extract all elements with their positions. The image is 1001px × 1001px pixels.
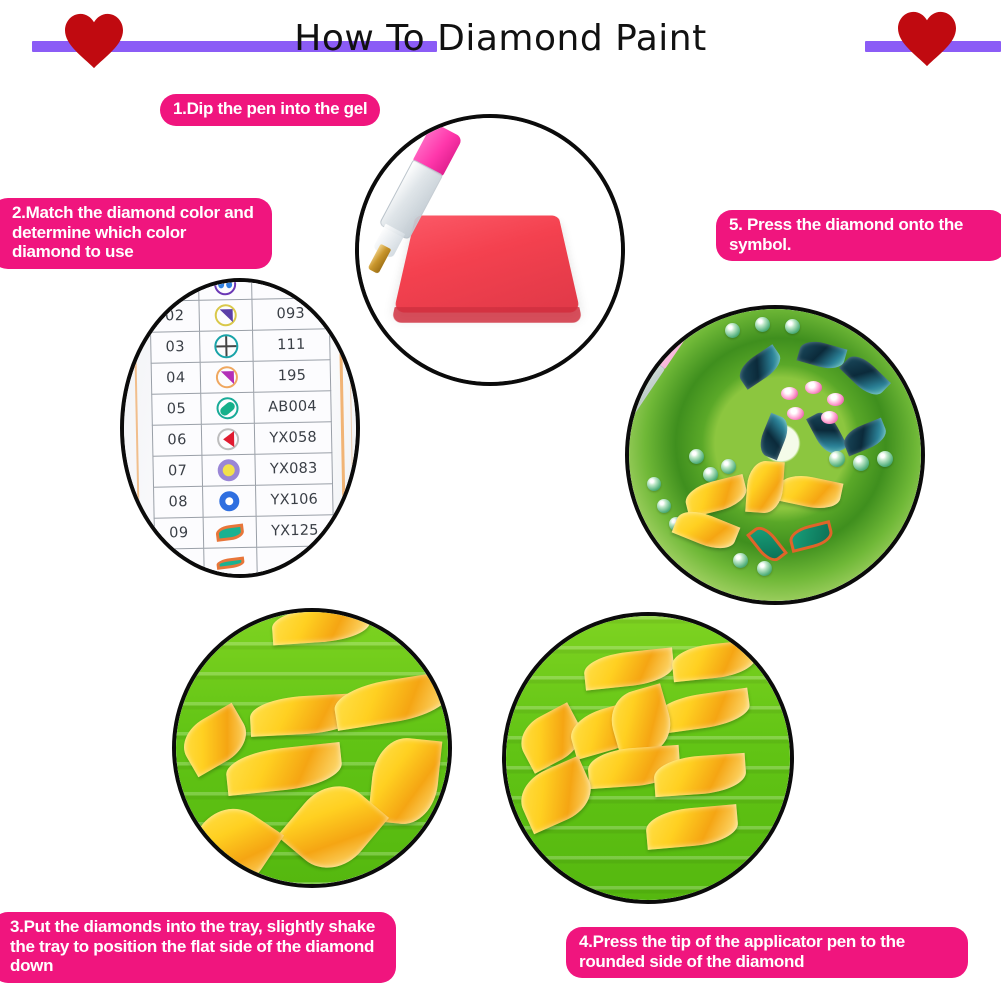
table-row: 05 AB004 — [152, 391, 332, 425]
cell-no — [155, 548, 205, 574]
table-row: 06 YX058 — [152, 422, 332, 456]
cell-no: 03 — [151, 331, 201, 363]
cell-symbol — [200, 361, 254, 393]
left-arrow-symbol-icon — [217, 428, 239, 450]
triangle-symbol-icon — [215, 304, 237, 326]
photo-diamonds-in-tray: yellow marquise diamonds on green ridged… — [172, 608, 452, 888]
cell-symbol — [203, 485, 257, 517]
table-row: 03 111 — [151, 329, 331, 363]
cell-code: 028 — [251, 282, 329, 299]
cell-no: 02 — [150, 300, 200, 332]
cell-code: YX083 — [255, 453, 333, 485]
cell-code — [257, 546, 335, 574]
table-row: 02 093 — [150, 298, 330, 332]
cell-no: 08 — [154, 486, 204, 518]
teal-leaf-symbol-icon — [215, 523, 245, 541]
table-row — [155, 546, 335, 574]
magenta-triangle-symbol-icon — [216, 366, 238, 388]
cell-symbol — [201, 392, 255, 424]
infographic-page: How To Diamond Paint 1.Dip the pen into … — [0, 0, 1001, 1001]
cell-code: YX125 — [256, 515, 334, 547]
table-row: 07 YX083 — [153, 453, 333, 487]
filled-dot-symbol-icon — [218, 459, 240, 481]
cell-code: YX106 — [256, 484, 334, 516]
cell-symbol — [204, 547, 258, 574]
gel-pad — [393, 215, 580, 312]
step-3-label: 3.Put the diamonds into the tray, slight… — [0, 912, 396, 983]
cell-code: YX058 — [254, 422, 332, 454]
cell-code: 195 — [253, 360, 331, 392]
cell-no: 05 — [152, 393, 202, 425]
cell-symbol — [202, 454, 256, 486]
step-2-label: 2.Match the diamond color and determine … — [0, 198, 272, 269]
cell-no: 01 — [149, 282, 199, 301]
cell-code: 111 — [253, 329, 331, 361]
table-row: 08 YX106 — [154, 484, 334, 518]
plus-symbol-icon — [214, 334, 238, 358]
photo-caption: pen pressing yellow diamond onto green m… — [629, 309, 630, 310]
photo-press-diamond-on-symbol: pen pressing yellow diamond onto green m… — [625, 305, 925, 605]
cell-no: 06 — [152, 424, 202, 456]
step-1-label: 1.Dip the pen into the gel — [160, 94, 380, 126]
table-row: 09 YX125 — [154, 515, 334, 549]
photo-caption: pen tip picking up a diamond from the gr… — [506, 616, 507, 617]
blue-donut-symbol-icon — [219, 491, 239, 511]
cell-code: 093 — [252, 298, 330, 330]
cell-symbol — [203, 516, 257, 548]
cell-symbol — [198, 282, 252, 300]
photo-caption: printed diamond painting color code char… — [124, 282, 125, 283]
step-4-label: 4.Press the tip of the applicator pen to… — [566, 927, 968, 978]
page-title: How To Diamond Paint — [0, 18, 1001, 59]
photo-color-chart: 01 028 02 093 — [120, 278, 360, 578]
cell-no: 07 — [153, 455, 203, 487]
cell-code: AB004 — [254, 391, 332, 423]
photo-caption: yellow marquise diamonds on green ridged… — [176, 612, 177, 613]
photo-pick-up-diamond: pen tip picking up a diamond from the gr… — [502, 612, 794, 904]
smiley-circle-symbol-icon — [214, 282, 236, 295]
cell-symbol — [199, 299, 253, 331]
cell-no: 09 — [154, 517, 204, 549]
teal-leaf-symbol-icon — [216, 557, 245, 570]
step-5-label: 5. Press the diamond onto the symbol. — [716, 210, 1001, 261]
chart-sheet: 01 028 02 093 — [149, 282, 333, 574]
cell-symbol — [200, 330, 254, 362]
photo-dip-pen-in-gel: applicator pen dipped into pink wax gel … — [355, 114, 625, 386]
cell-no: 04 — [151, 362, 201, 394]
color-code-table: 01 028 02 093 — [149, 282, 335, 574]
table-row: 04 195 — [151, 360, 331, 394]
lozenge-symbol-icon — [216, 397, 238, 419]
cell-symbol — [201, 423, 255, 455]
